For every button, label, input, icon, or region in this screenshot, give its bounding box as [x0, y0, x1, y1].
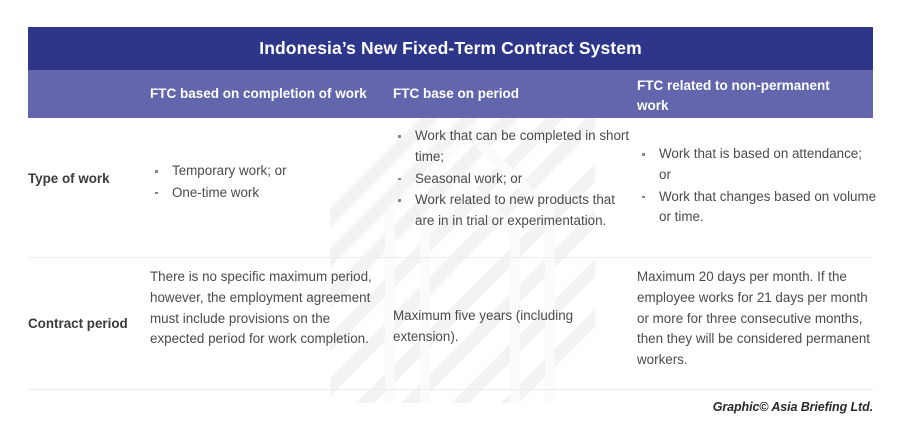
bullet-list: Temporary work; or One-time work	[150, 161, 388, 204]
cell-contract-period-completion: There is no specific maximum period, how…	[150, 267, 388, 350]
bullet-list: Work that is based on attendance; or Wor…	[637, 144, 877, 228]
cell-type-of-work-non-permanent: Work that is based on attendance; or Wor…	[637, 144, 877, 229]
cell-type-of-work-period: Work that can be completed in short time…	[393, 126, 631, 233]
list-item: Temporary work; or	[150, 161, 388, 182]
paragraph: There is no specific maximum period, how…	[150, 267, 388, 350]
list-item: One-time work	[150, 183, 388, 204]
table-column-header-row: FTC based on completion of work FTC base…	[28, 70, 873, 118]
graphic-credit: Graphic© Asia Briefing Ltd.	[713, 400, 873, 414]
paragraph: Maximum five years (including extension)…	[393, 306, 631, 348]
table-row: Type of work Temporary work; or One-time…	[28, 118, 873, 258]
column-header-ftc-completion: FTC based on completion of work	[150, 84, 400, 104]
cell-contract-period-non-permanent: Maximum 20 days per month. If the employ…	[637, 267, 877, 371]
list-item: Seasonal work; or	[393, 169, 631, 190]
table-footer: Graphic© Asia Briefing Ltd.	[28, 390, 873, 432]
paragraph: Maximum 20 days per month. If the employ…	[637, 267, 877, 371]
list-item: Work related to new products that are in…	[393, 190, 631, 232]
table-row: Contract period There is no specific max…	[28, 258, 873, 390]
contract-comparison-table: Indonesia’s New Fixed-Term Contract Syst…	[28, 27, 873, 432]
cell-contract-period-period: Maximum five years (including extension)…	[393, 306, 631, 348]
infographic-page: Indonesia’s New Fixed-Term Contract Syst…	[0, 0, 900, 446]
row-label-contract-period: Contract period	[28, 314, 148, 335]
list-item: Work that is based on attendance; or	[637, 144, 877, 186]
list-item: Work that can be completed in short time…	[393, 126, 631, 168]
row-label-type-of-work: Type of work	[28, 169, 148, 190]
bullet-list: Work that can be completed in short time…	[393, 126, 631, 232]
list-item: Work that changes based on volume or tim…	[637, 187, 877, 229]
column-header-ftc-non-permanent: FTC related to non-permanent work	[637, 76, 837, 115]
column-header-ftc-period: FTC base on period	[393, 84, 623, 104]
table-title-bar: Indonesia’s New Fixed-Term Contract Syst…	[28, 27, 873, 70]
page-title: Indonesia’s New Fixed-Term Contract Syst…	[259, 38, 642, 59]
cell-type-of-work-completion: Temporary work; or One-time work	[150, 161, 388, 205]
